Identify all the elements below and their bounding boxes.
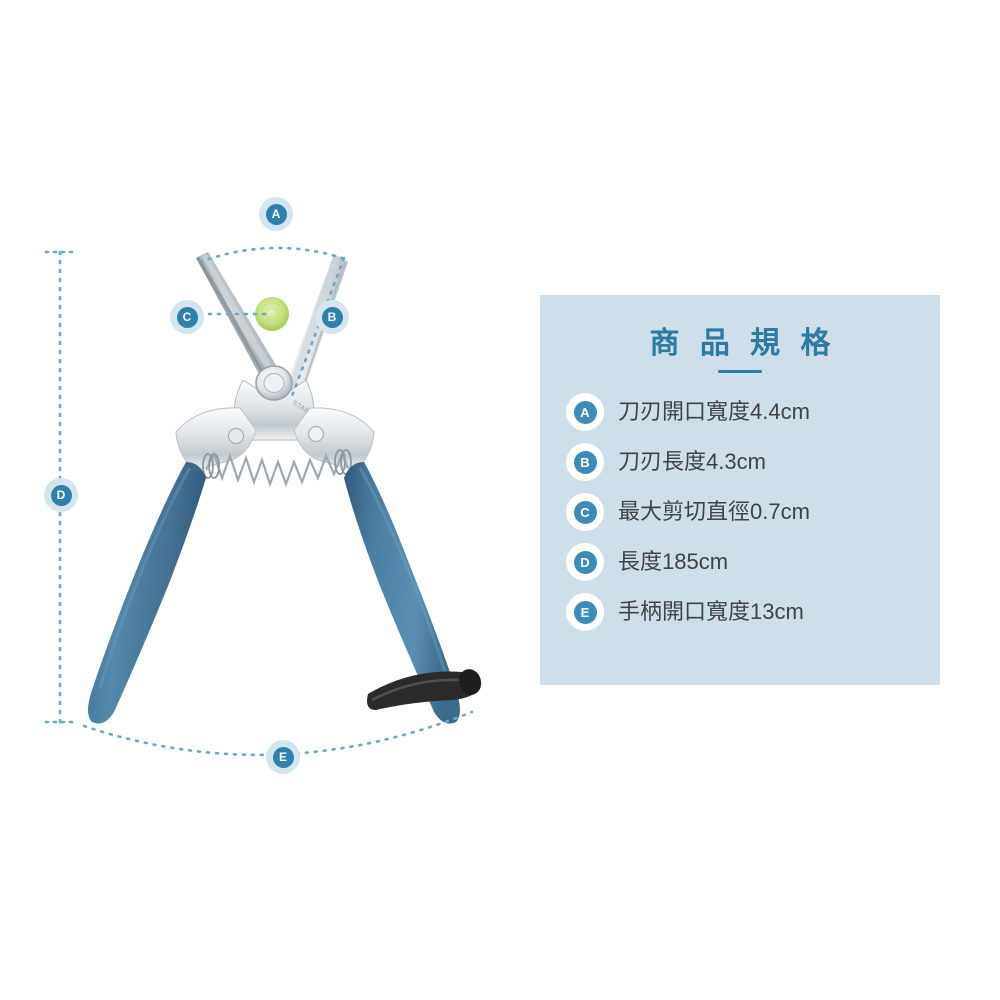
callout-letter-c: C — [177, 307, 198, 328]
callout-letter-b: B — [322, 307, 343, 328]
spec-row-e: E 手柄開口寬度13cm — [566, 587, 914, 637]
spec-text-b: 刀刃長度4.3cm — [618, 449, 766, 475]
spec-text-e: 手柄開口寬度13cm — [618, 599, 804, 625]
infographic-canvas: STAINLESS STEEL — [0, 0, 1000, 1000]
spec-badge-d: D — [566, 543, 604, 581]
callout-badge-b[interactable]: B — [315, 300, 349, 334]
green-cut-marker — [255, 297, 289, 331]
specification-list: A 刀刃開口寬度4.4cm B 刀刃長度4.3cm C 最大剪切直徑0.7cm … — [566, 387, 914, 637]
callout-letter-e: E — [273, 747, 294, 768]
spec-letter-a: A — [574, 401, 597, 424]
spec-letter-d: D — [574, 551, 597, 574]
spec-text-c: 最大剪切直徑0.7cm — [618, 499, 810, 525]
callout-letter-d: D — [51, 485, 72, 506]
spec-row-b: B 刀刃長度4.3cm — [566, 437, 914, 487]
spec-text-d: 長度185cm — [618, 549, 728, 575]
spec-row-c: C 最大剪切直徑0.7cm — [566, 487, 914, 537]
spec-badge-a: A — [566, 393, 604, 431]
spec-badge-e: E — [566, 593, 604, 631]
spec-badge-c: C — [566, 493, 604, 531]
spec-row-a: A 刀刃開口寬度4.4cm — [566, 387, 914, 437]
pruning-shears-illustration: STAINLESS STEEL — [0, 0, 520, 1000]
callout-badge-d[interactable]: D — [44, 478, 78, 512]
callout-badge-a[interactable]: A — [259, 197, 293, 231]
callout-badge-c[interactable]: C — [170, 300, 204, 334]
specification-panel: 商 品 規 格 A 刀刃開口寬度4.4cm B 刀刃長度4.3cm C 最大剪切… — [540, 295, 940, 685]
callout-badge-e[interactable]: E — [266, 740, 300, 774]
left-handle-grip — [88, 462, 206, 724]
spec-row-d: D 長度185cm — [566, 537, 914, 587]
spec-text-a: 刀刃開口寬度4.4cm — [618, 399, 810, 425]
dimension-line-a — [200, 248, 342, 262]
product-illustration-area: STAINLESS STEEL — [0, 0, 520, 1000]
panel-title: 商 品 規 格 — [566, 327, 914, 360]
spec-letter-c: C — [574, 501, 597, 524]
spec-letter-b: B — [574, 451, 597, 474]
title-divider — [718, 370, 762, 373]
spec-letter-e: E — [574, 601, 597, 624]
spec-badge-b: B — [566, 443, 604, 481]
callout-letter-a: A — [266, 204, 287, 225]
